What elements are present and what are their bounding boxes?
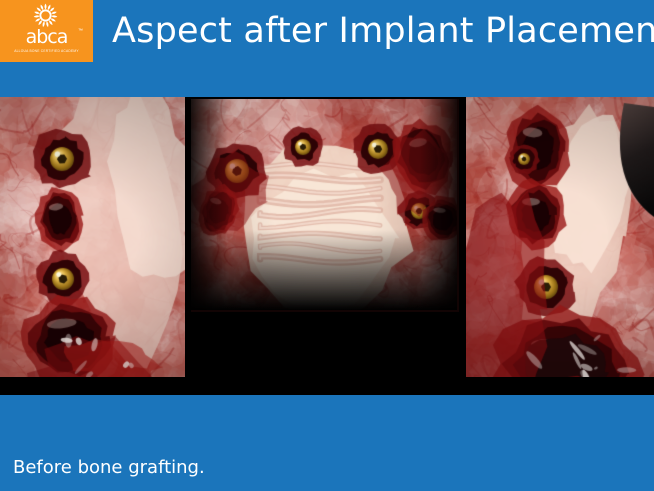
presentation-slide: abca ™ ALLOUA BONE CERTIFIED ACADEMY Asp…: [0, 0, 654, 491]
slide-content-area: [0, 97, 654, 395]
clinical-photo-right: [466, 97, 654, 377]
abca-sunburst-icon: [29, 2, 62, 29]
slide-caption: Before bone grafting.: [13, 457, 205, 479]
clinical-photo-right-canvas: [466, 97, 654, 377]
abca-logo-subtitle: ALLOUA BONE CERTIFIED ACADEMY: [2, 49, 91, 53]
clinical-photo-middle-canvas: [191, 99, 457, 310]
clinical-photo-middle: [190, 98, 460, 313]
slide-title: Aspect after Implant Placement: [112, 6, 650, 56]
abca-trademark-symbol: ™: [78, 29, 83, 34]
slide-footer: Before bone grafting.: [0, 395, 654, 491]
clinical-photo-left: [0, 97, 185, 377]
abca-logo: abca ™ ALLOUA BONE CERTIFIED ACADEMY: [0, 0, 93, 62]
slide-header: abca ™ ALLOUA BONE CERTIFIED ACADEMY Asp…: [0, 0, 654, 97]
clinical-photo-left-canvas: [0, 97, 185, 377]
